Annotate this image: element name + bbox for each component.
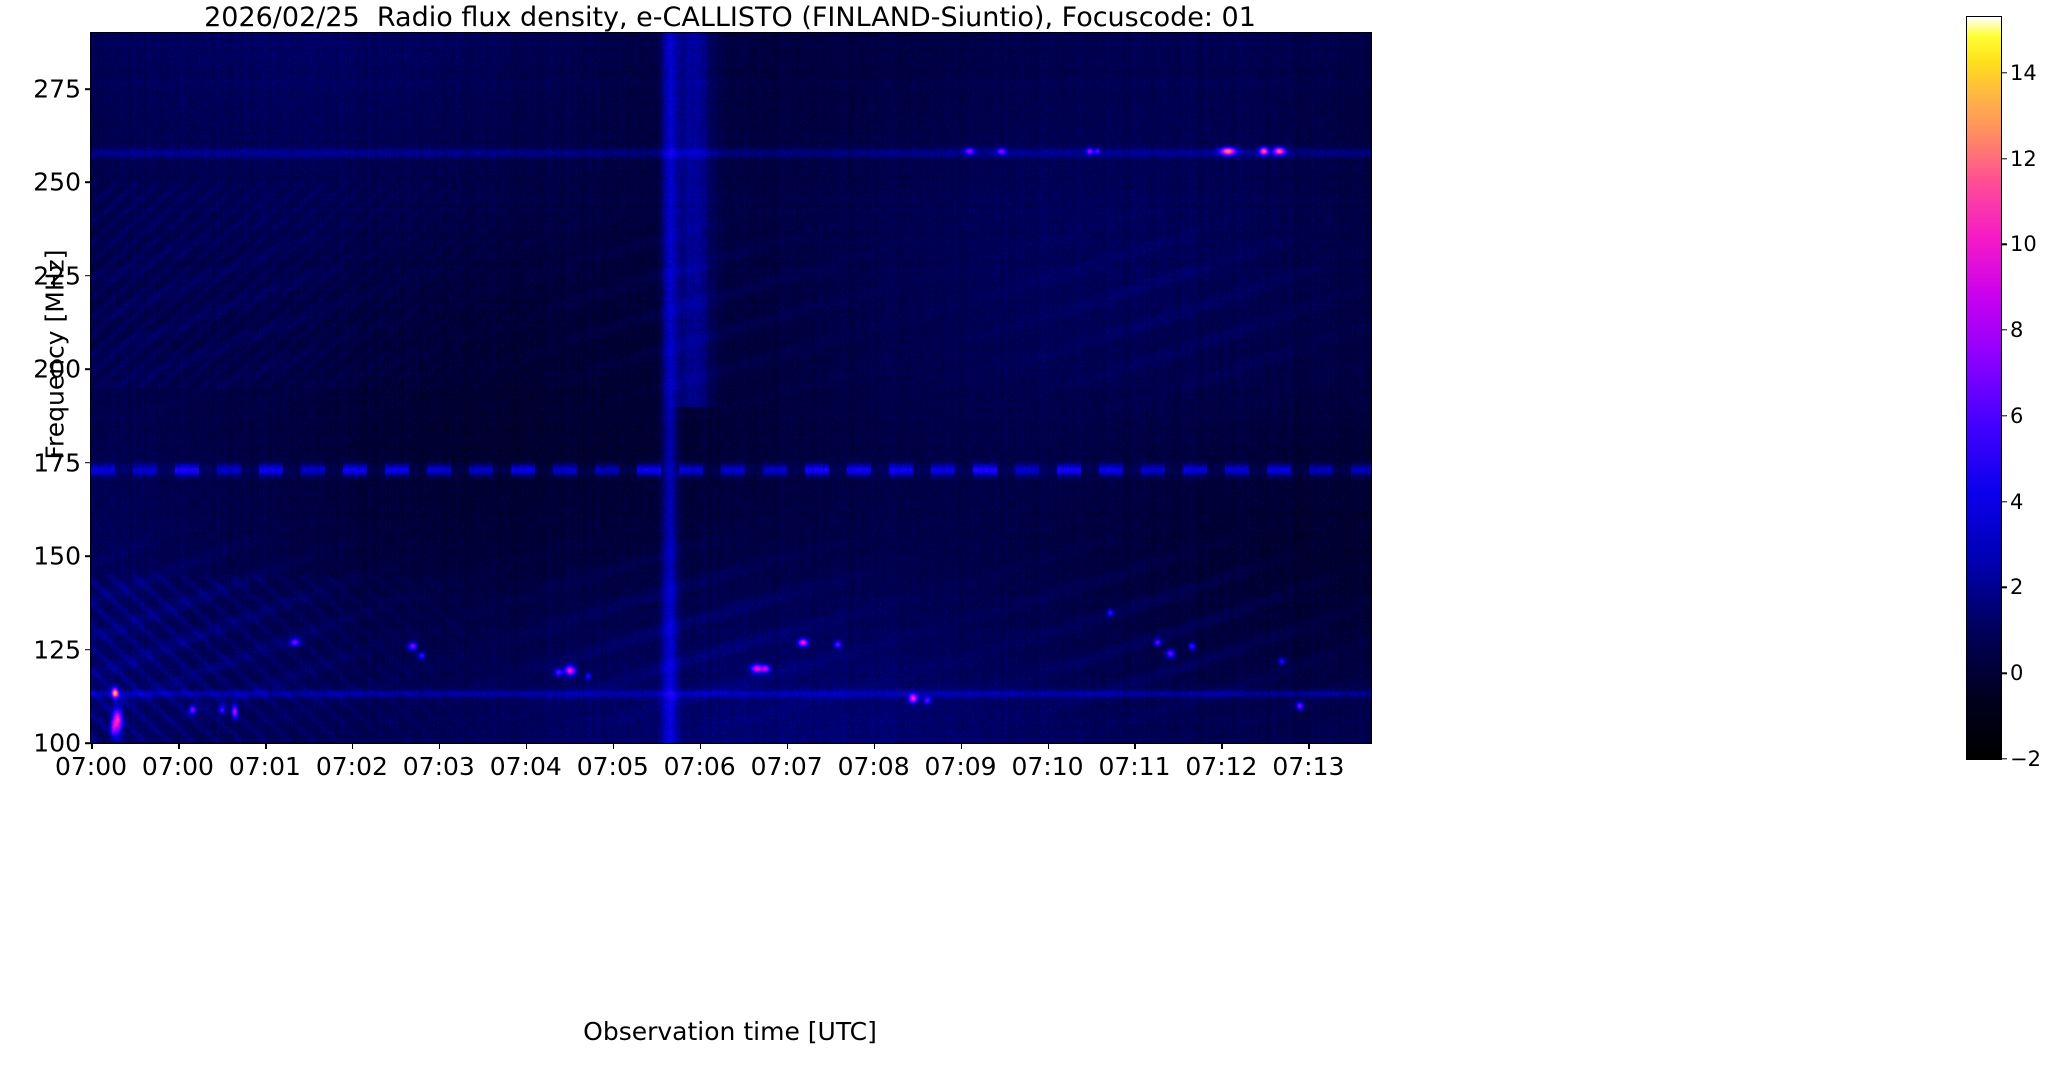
y-tick-mark <box>85 275 91 277</box>
colorbar-tick-mark <box>2001 587 2007 588</box>
y-tick-label: 250 <box>0 168 81 197</box>
x-tick-mark <box>787 743 789 749</box>
colorbar-tick-label: −2 <box>2010 747 2066 771</box>
spectrogram-figure: 2026/02/25 Radio flux density, e-CALLIST… <box>0 0 2066 1067</box>
y-tick-label: 175 <box>0 448 81 477</box>
y-tick-mark <box>85 649 91 651</box>
y-tick-mark <box>85 88 91 90</box>
colorbar-tick-label: 4 <box>2010 490 2066 514</box>
x-tick-mark <box>439 743 441 749</box>
colorbar-tick-mark <box>2001 673 2007 674</box>
colorbar-tick-label: 6 <box>2010 404 2066 428</box>
y-tick-mark <box>85 182 91 184</box>
colorbar-tick-mark <box>2001 158 2007 159</box>
spectrogram-axes <box>90 32 1372 744</box>
x-tick-mark <box>91 743 93 749</box>
x-tick-mark <box>178 743 180 749</box>
x-tick-mark <box>526 743 528 749</box>
x-tick-mark <box>1134 743 1136 749</box>
colorbar-tick-mark <box>2001 329 2007 330</box>
colorbar-tick-mark <box>2001 758 2007 759</box>
y-tick-mark <box>85 462 91 464</box>
x-tick-label: 07:13 <box>1228 752 1388 781</box>
x-tick-mark <box>1221 743 1223 749</box>
y-tick-label: 125 <box>0 635 81 664</box>
colorbar-tick-mark <box>2001 244 2007 245</box>
x-tick-mark <box>352 743 354 749</box>
y-tick-label: 200 <box>0 355 81 384</box>
colorbar-tick-label: 12 <box>2010 147 2066 171</box>
x-tick-mark <box>265 743 267 749</box>
spectrogram-heatmap <box>91 33 1371 743</box>
colorbar-gradient <box>1967 17 2001 759</box>
y-tick-mark <box>85 555 91 557</box>
x-tick-mark <box>874 743 876 749</box>
x-tick-mark <box>1308 743 1310 749</box>
x-tick-mark <box>961 743 963 749</box>
x-axis-label: Observation time [UTC] <box>90 1017 1370 1046</box>
colorbar-tick-mark <box>2001 501 2007 502</box>
colorbar-tick-label: 0 <box>2010 661 2066 685</box>
x-tick-mark <box>1048 743 1050 749</box>
y-tick-label: 150 <box>0 542 81 571</box>
colorbar-tick-label: 2 <box>2010 575 2066 599</box>
page-title: 2026/02/25 Radio flux density, e-CALLIST… <box>90 2 1370 33</box>
y-tick-mark <box>85 369 91 371</box>
y-tick-label: 225 <box>0 261 81 290</box>
colorbar-tick-mark <box>2001 415 2007 416</box>
colorbar-tick-label: 14 <box>2010 61 2066 85</box>
colorbar-tick-mark <box>2001 72 2007 73</box>
y-tick-label: 275 <box>0 75 81 104</box>
colorbar <box>1966 16 2002 760</box>
colorbar-tick-label: 8 <box>2010 318 2066 342</box>
x-tick-mark <box>613 743 615 749</box>
x-tick-mark <box>700 743 702 749</box>
colorbar-tick-label: 10 <box>2010 232 2066 256</box>
